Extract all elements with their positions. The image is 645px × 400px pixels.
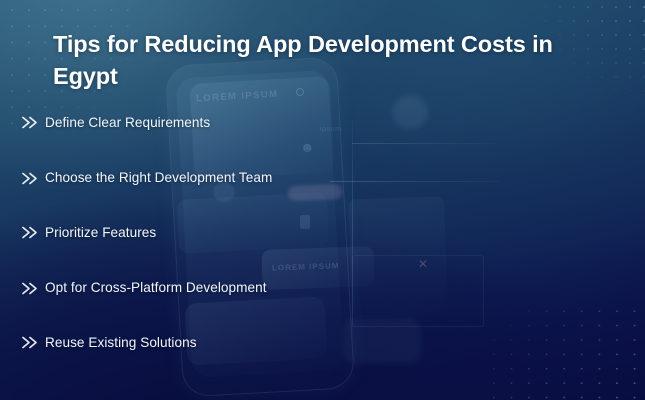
double-chevron-right-icon (20, 225, 45, 240)
tips-column-right: Effective Project Management Thorough Te… (306, 108, 645, 400)
page-title: Tips for Reducing App Development Costs … (53, 28, 558, 92)
list-item[interactable]: Opt for Cross-Platform Development (20, 266, 306, 310)
list-item-label: Define Clear Requirements (45, 113, 210, 133)
infographic-canvas: LOREM IPSUM LOREM IPSUM ✕ ☻ ipsum Tips f… (0, 0, 645, 400)
double-chevron-right-icon (20, 281, 45, 296)
list-item-label: Opt for Cross-Platform Development (45, 278, 267, 298)
list-item-label: Choose the Right Development Team (45, 168, 272, 188)
list-item[interactable]: Effective Project Management (306, 108, 645, 167)
list-item[interactable]: Define Clear Requirements (20, 108, 306, 137)
list-item[interactable]: Thorough Testing (306, 186, 645, 225)
list-item[interactable]: Reuse Existing Solutions (20, 328, 306, 357)
double-chevron-right-icon (20, 115, 45, 130)
list-item[interactable]: Appropriate Scaling Strategy (306, 272, 645, 331)
list-item[interactable]: Prioritize Features (20, 218, 306, 247)
tips-lists: Define Clear Requirements Choose the Rig… (0, 108, 645, 400)
content-layer: Tips for Reducing App Development Costs … (0, 0, 645, 400)
list-item-label: Reuse Existing Solutions (45, 333, 197, 353)
list-item[interactable]: Outsource Non-Core Functions (306, 349, 645, 400)
tips-column-left: Define Clear Requirements Choose the Rig… (0, 108, 306, 400)
double-chevron-right-icon (20, 335, 45, 350)
list-item-label: Prioritize Features (45, 223, 156, 243)
list-item[interactable]: Choose the Right Development Team (20, 156, 306, 200)
double-chevron-right-icon (20, 171, 45, 186)
